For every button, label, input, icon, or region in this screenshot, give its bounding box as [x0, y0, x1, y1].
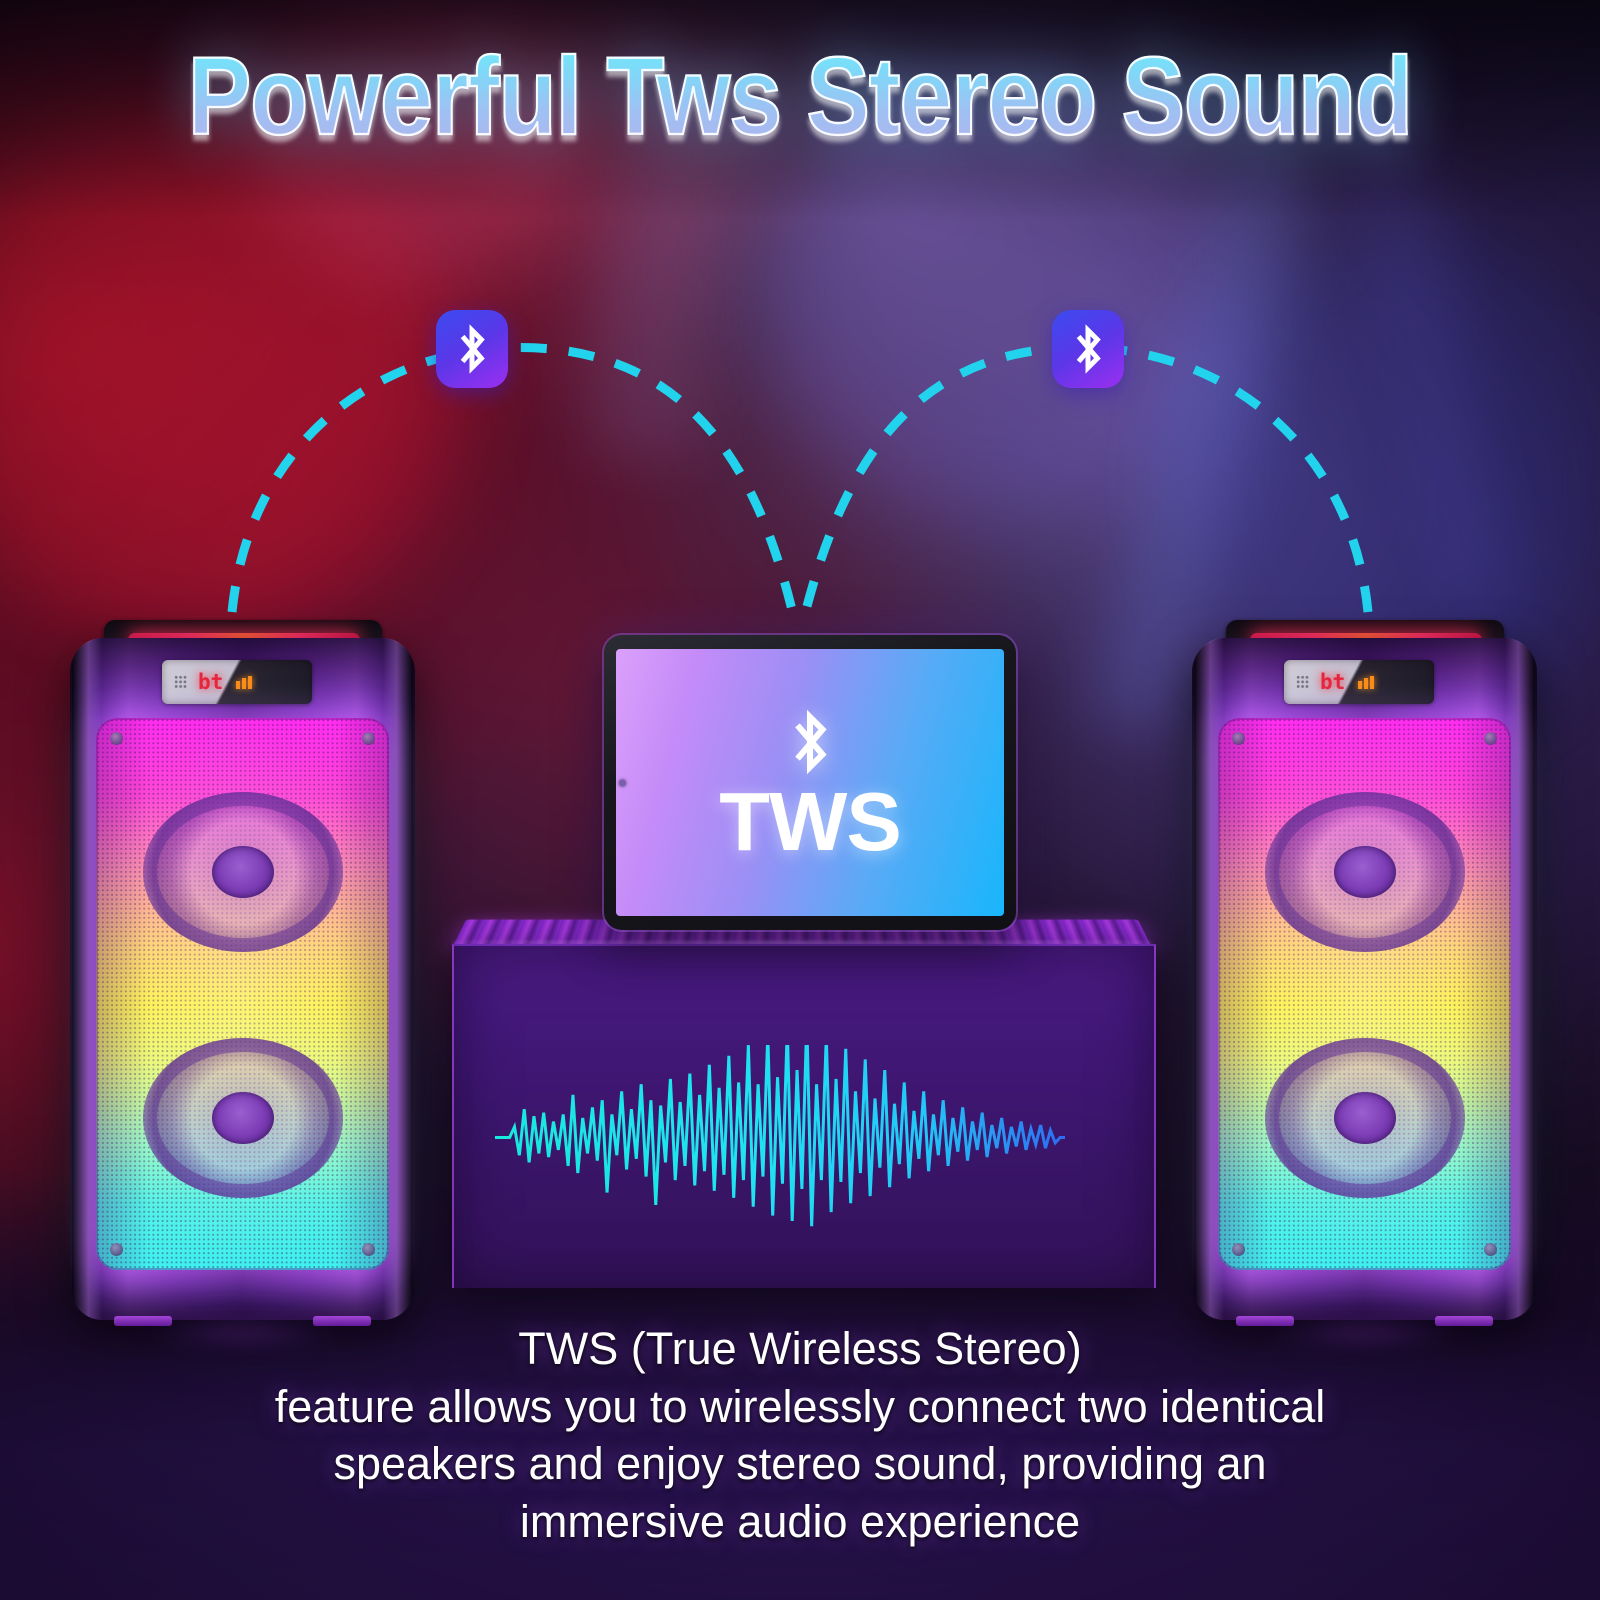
speaker-woofer-dustcap	[1334, 1092, 1396, 1144]
caption-line-2: feature allows you to wirelessly connect…	[0, 1378, 1600, 1436]
speaker-woofer-top	[1265, 792, 1465, 952]
caption-line-4: immersive audio experience	[0, 1493, 1600, 1551]
speaker-screw	[1232, 1243, 1245, 1256]
speaker-display-status: bt	[198, 672, 223, 693]
speaker-woofer-dustcap	[1334, 846, 1396, 898]
speaker-woofer-bottom	[1265, 1038, 1465, 1198]
speaker-led-display: bt	[1284, 660, 1434, 704]
speaker-rgb-grille	[1218, 718, 1511, 1270]
speaker-woofer-dustcap	[212, 1092, 274, 1144]
caption-line-3: speakers and enjoy stereo sound, providi…	[0, 1435, 1600, 1493]
speaker-signal-bars-icon	[236, 676, 252, 689]
connection-arc-left	[232, 347, 792, 612]
page-title: Powerful Tws Stereo Sound	[188, 40, 1412, 156]
speaker-woofer-dustcap	[212, 846, 274, 898]
bluetooth-badge-left[interactable]	[436, 310, 508, 388]
speaker-screw	[362, 732, 375, 745]
bluetooth-icon	[1068, 324, 1108, 374]
speaker-right[interactable]: bt	[1192, 620, 1537, 1320]
speaker-screw	[1232, 732, 1245, 745]
speaker-woofer-top	[143, 792, 343, 952]
bluetooth-badge-right[interactable]	[1052, 310, 1124, 388]
speaker-left[interactable]: bt	[70, 620, 415, 1320]
speaker-woofer-bottom	[143, 1038, 343, 1198]
speaker-signal-bars-icon	[1358, 676, 1374, 689]
speaker-rgb-grille	[96, 718, 389, 1270]
headline-container: Powerful Tws Stereo Sound	[0, 48, 1600, 148]
speaker-screw	[362, 1243, 375, 1256]
caption-block: TWS (True Wireless Stereo) feature allow…	[0, 1320, 1600, 1550]
speaker-screw	[1484, 732, 1497, 745]
speaker-screw	[1484, 1243, 1497, 1256]
bluetooth-icon	[452, 324, 492, 374]
bluetooth-dot-matrix-icon	[1296, 675, 1309, 689]
speaker-led-display: bt	[162, 660, 312, 704]
speaker-screw	[110, 1243, 123, 1256]
bluetooth-dot-matrix-icon	[174, 675, 187, 689]
caption-line-1: TWS (True Wireless Stereo)	[0, 1320, 1600, 1378]
speaker-screw	[110, 732, 123, 745]
speaker-display-status: bt	[1320, 672, 1345, 693]
product-feature-banner: Powerful Tws Stereo Sound	[0, 0, 1600, 1600]
